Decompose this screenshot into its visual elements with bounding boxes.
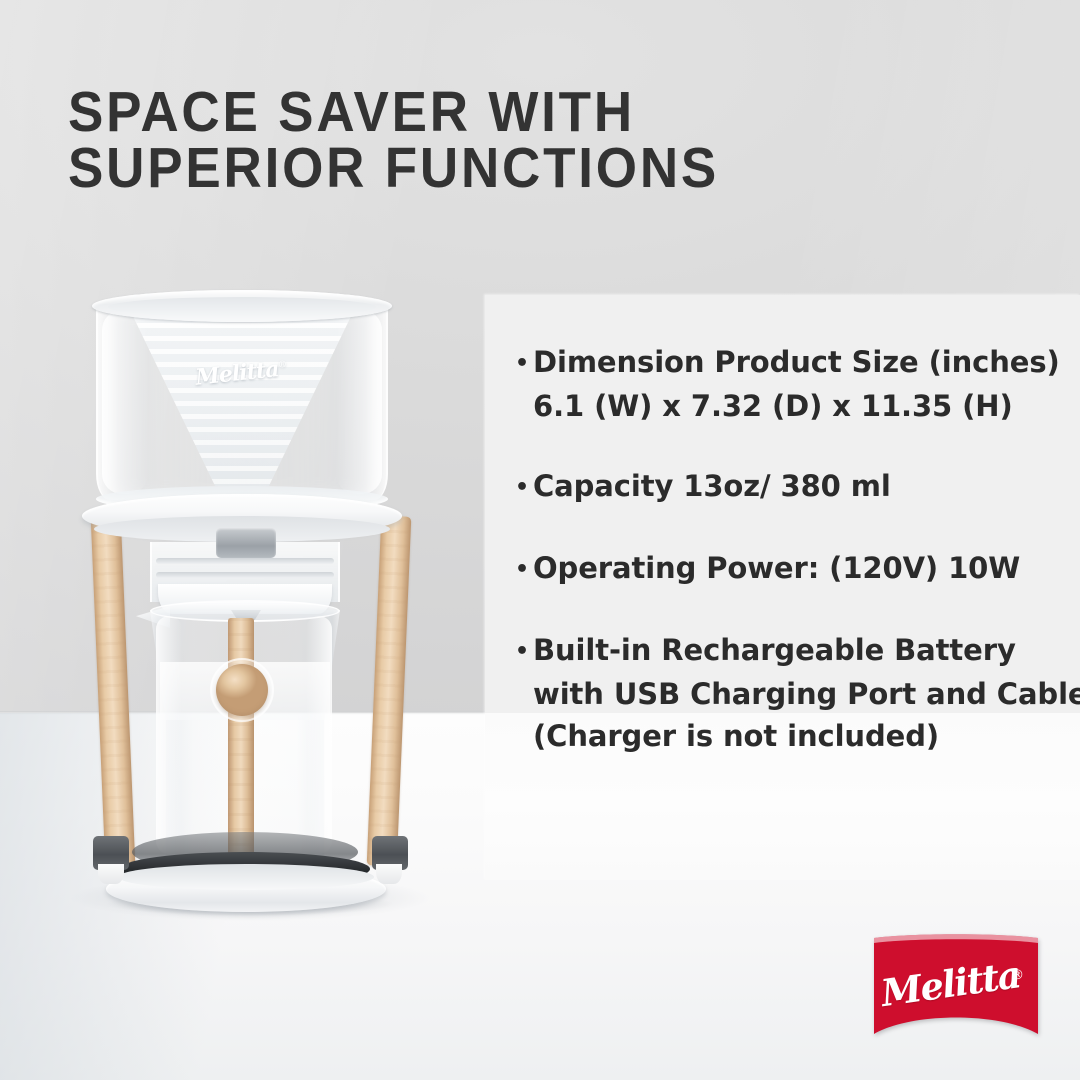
spec-bullet-dimension: Dimension Product Size (inches) 6.1 (W) …: [515, 341, 1075, 427]
spec-bullet-capacity: Capacity 13oz/ 380 ml: [515, 465, 1075, 509]
spec-line: (Charger is not included): [515, 715, 1075, 757]
headline-line-2: SUPERIOR FUNCTIONS: [68, 140, 831, 196]
glass-highlight-right: [336, 310, 382, 494]
wooden-ball-knob: [216, 664, 268, 716]
spec-line: Capacity 13oz/ 380 ml: [515, 465, 1075, 509]
brew-head-slat: [156, 572, 334, 578]
carafe-highlight-left: [156, 616, 182, 854]
glass-highlight-left: [102, 310, 148, 494]
spec-bullet-operating-power: Operating Power: (120V) 10W: [515, 547, 1075, 591]
spec-line: Operating Power: (120V) 10W: [515, 547, 1075, 591]
brew-head-slat: [156, 558, 334, 564]
product-marketing-image: SPACE SAVER WITH SUPERIOR FUNCTIONS Meli…: [0, 0, 1080, 1080]
leg-foot-left: [98, 864, 124, 884]
logo-registered-mark: ®: [1011, 968, 1024, 983]
dripper-rim-inner: [108, 297, 376, 317]
spec-line: 6.1 (W) x 7.32 (D) x 11.35 (H): [515, 385, 1075, 427]
logo-wordmark: Melitta: [872, 932, 1040, 1040]
headline-line-1: SPACE SAVER WITH: [68, 84, 831, 140]
product-image-coffee-maker: Melitta®: [60, 280, 440, 940]
specifications-list: Dimension Product Size (inches) 6.1 (W) …: [515, 341, 1075, 757]
wood-grain: [228, 618, 254, 868]
spec-bullet-battery: Built-in Rechargeable Battery with USB C…: [515, 629, 1075, 757]
wooden-center-post: [228, 618, 254, 868]
spec-line: with USB Charging Port and Cable: [515, 673, 1075, 715]
wood-grain: [367, 516, 412, 867]
spec-line: Dimension Product Size (inches): [515, 341, 1075, 385]
headline: SPACE SAVER WITH SUPERIOR FUNCTIONS: [68, 84, 831, 196]
dripper-logo-registered-mark: ®: [278, 360, 287, 371]
base-top-surface: [118, 864, 374, 890]
leg-foot-right: [376, 864, 402, 884]
specifications-panel: Dimension Product Size (inches) 6.1 (W) …: [485, 295, 1080, 880]
wooden-leg-left: [91, 516, 136, 867]
carafe-highlight-right: [306, 616, 332, 854]
melitta-brand-logo: Melitta ®: [872, 932, 1040, 1040]
wooden-leg-right: [367, 516, 412, 867]
spec-line: Built-in Rechargeable Battery: [515, 629, 1075, 673]
brew-head-metal-fitting: [216, 528, 276, 558]
logo-wordmark-text: Melitta: [878, 952, 1022, 1015]
wood-grain: [91, 516, 136, 867]
